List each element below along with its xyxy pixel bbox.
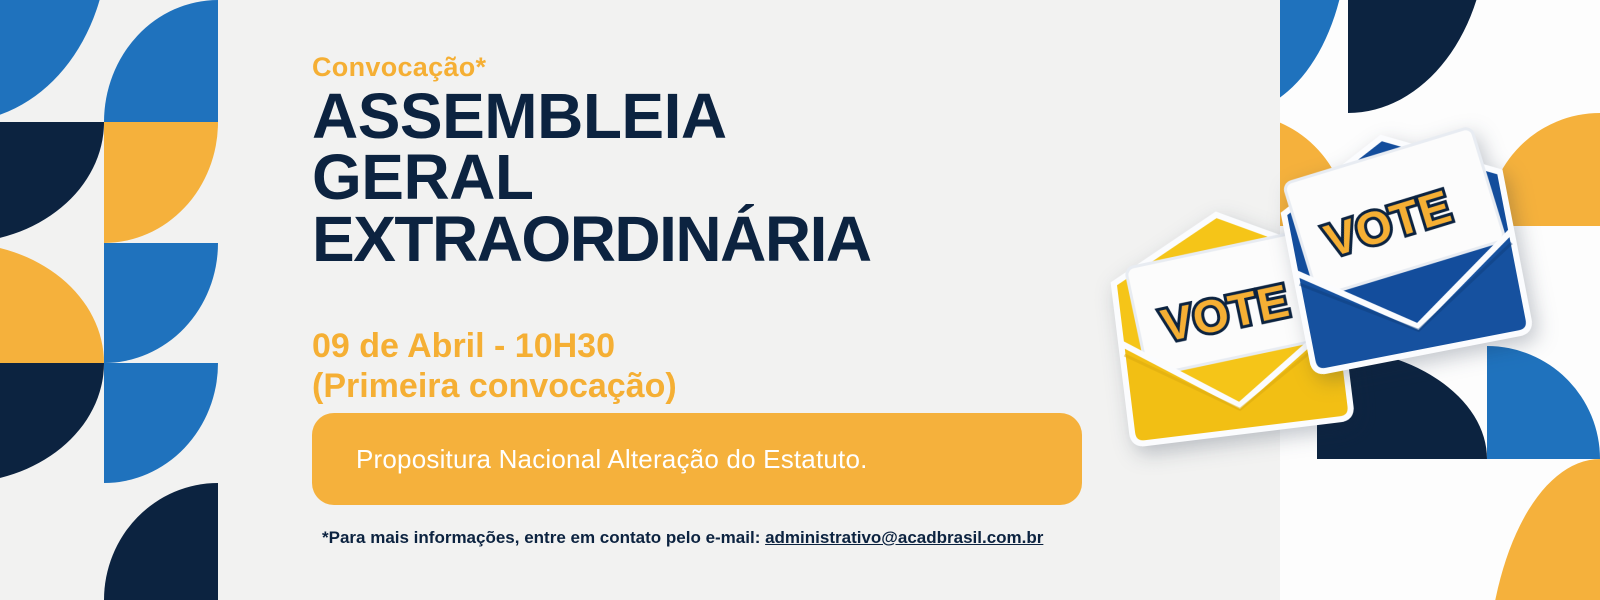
event-date-time-line: 09 de Abril - 10H30: [312, 326, 677, 366]
pattern-shape: [0, 0, 104, 122]
eyebrow-label: Convocação*: [312, 52, 486, 83]
headline-line-2: GERAL: [312, 147, 871, 208]
headline-line-1: ASSEMBLEIA: [312, 86, 871, 147]
event-call-order-line: (Primeira convocação): [312, 366, 677, 406]
pattern-shape: [1487, 459, 1600, 600]
pattern-shape: [104, 0, 218, 122]
contact-email-link[interactable]: administrativo@acadbrasil.com.br: [765, 528, 1043, 547]
pattern-tile: [0, 363, 104, 483]
footnote-prefix-text: *Para mais informações, entre em contato…: [322, 528, 765, 547]
pattern-shape: [1280, 0, 1348, 113]
pattern-shape: [1348, 0, 1487, 113]
pattern-tile: [104, 122, 218, 243]
pattern-tile: [1348, 0, 1487, 113]
assembly-announcement-banner: VOTE VOTE Convocação* ASSEMBL: [0, 0, 1600, 600]
agenda-topic-label: Propositura Nacional Alteração do Estatu…: [356, 444, 868, 475]
pattern-shape: [104, 483, 218, 600]
event-datetime: 09 de Abril - 10H30 (Primeira convocação…: [312, 326, 677, 406]
pattern-shape: [0, 122, 104, 243]
pattern-tile: [104, 363, 218, 483]
pattern-tile: [0, 122, 104, 243]
pattern-tile: [1487, 0, 1600, 113]
pattern-shape: [0, 363, 104, 483]
contact-footnote: *Para mais informações, entre em contato…: [322, 528, 1043, 548]
page-title: ASSEMBLEIA GERAL EXTRAORDINÁRIA: [312, 86, 871, 270]
pattern-shape: [104, 243, 218, 363]
pattern-tile: [104, 0, 218, 122]
agenda-topic-pill: Propositura Nacional Alteração do Estatu…: [312, 413, 1082, 505]
pattern-shape: [104, 363, 218, 483]
pattern-tile: [1487, 459, 1600, 600]
pattern-tile: [1280, 0, 1348, 113]
pattern-tile: [104, 243, 218, 363]
headline-line-3: EXTRAORDINÁRIA: [312, 209, 871, 270]
banner-content: Convocação* ASSEMBLEIA GERAL EXTRAORDINÁ…: [312, 0, 1172, 600]
pattern-tile: [0, 0, 104, 122]
pattern-tile: [0, 243, 104, 363]
left-decorative-pattern: [0, 0, 218, 600]
blue-vote-envelope: VOTE: [1254, 108, 1550, 392]
pattern-tile: [104, 483, 218, 600]
pattern-shape: [104, 122, 218, 243]
pattern-shape: [0, 243, 104, 363]
